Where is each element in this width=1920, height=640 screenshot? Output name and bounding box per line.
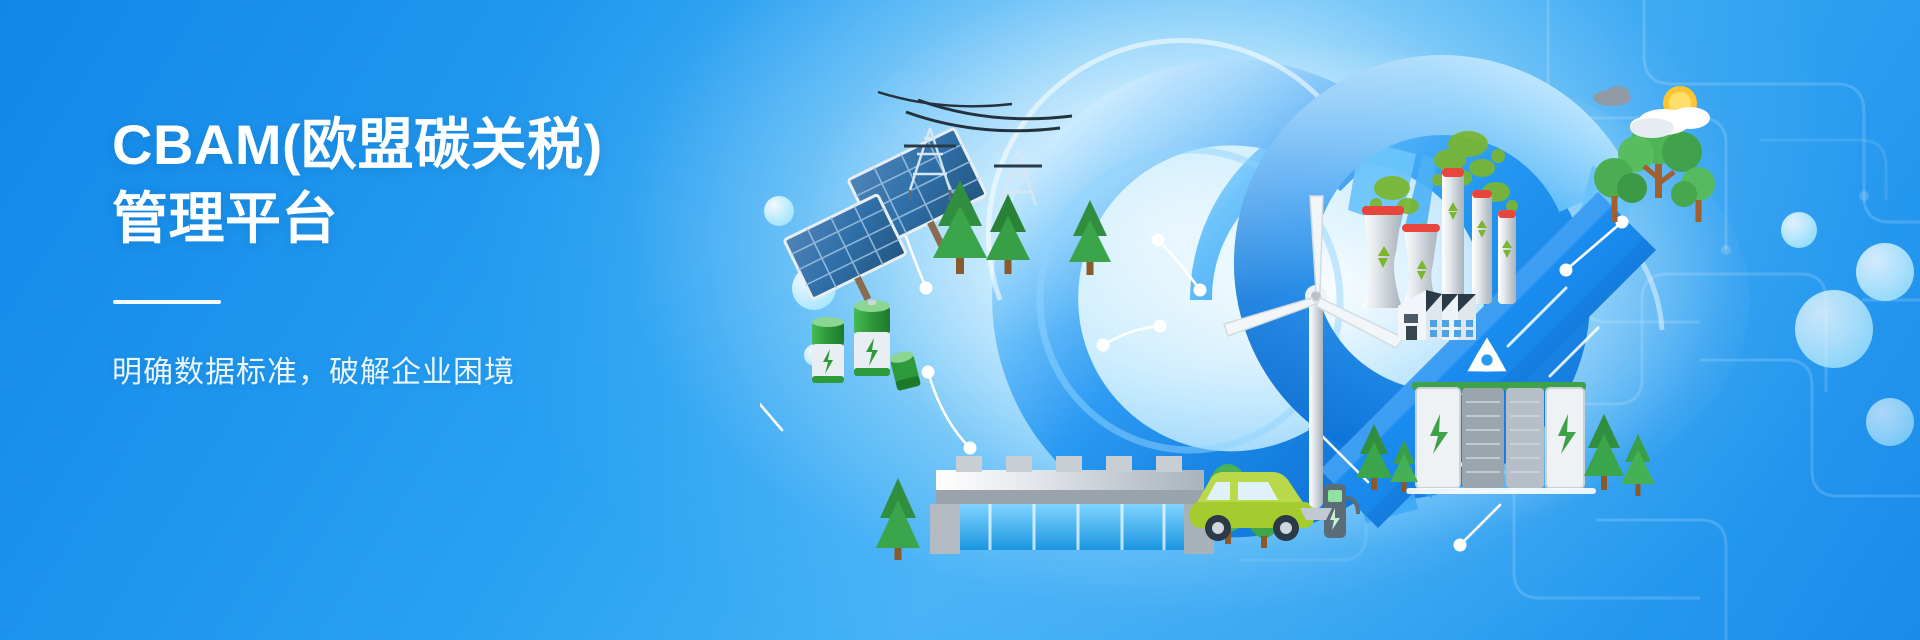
page-title-line-1: CBAM(欧盟碳关税) [112, 113, 603, 176]
hero-copy: CBAM(欧盟碳关税) 管理平台 明确数据标准，破解企业困境 [112, 108, 872, 394]
smog-cloud-icon [1593, 86, 1631, 106]
hero-subtitle: 明确数据标准，破解企业困境 [112, 352, 872, 394]
page-title: CBAM(欧盟碳关税) 管理平台 [112, 108, 872, 256]
cbam-hero-banner: CBAM(欧盟碳关税) 管理平台 明确数据标准，破解企业困境 [0, 0, 1920, 640]
title-divider [113, 300, 221, 304]
page-title-line-2: 管理平台 [112, 182, 872, 256]
carbon-neutral-illustration [760, 0, 1920, 640]
